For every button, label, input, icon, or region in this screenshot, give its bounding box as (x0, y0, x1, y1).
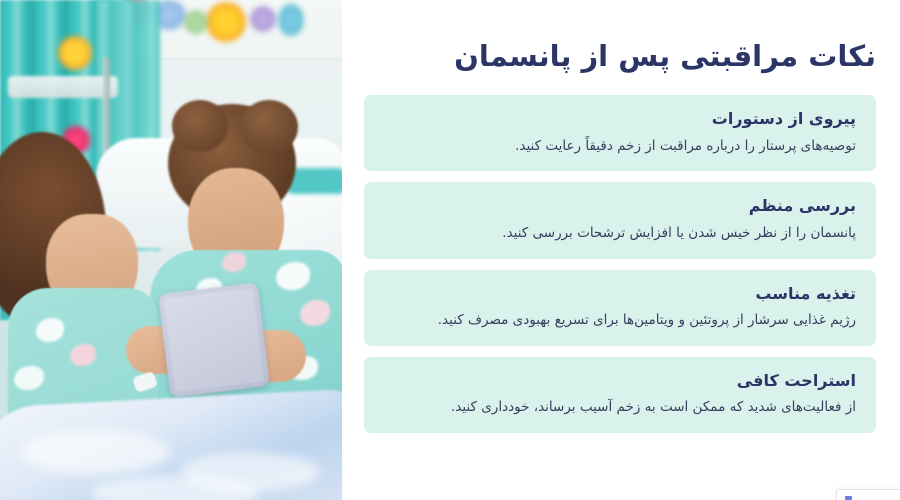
tip-card[interactable]: پیروی از دستورات توصیه‌های پرستار را درب… (364, 95, 876, 171)
blanket-fold-1 (20, 430, 170, 474)
hair-bun-left (172, 100, 228, 152)
page-title: نکات مراقبتی پس از پانسمان (364, 0, 876, 95)
tip-description: پانسمان را از نظر خیس شدن یا افزایش ترشح… (384, 223, 856, 244)
tablet-device (158, 282, 270, 397)
art-flower-teal (278, 4, 304, 36)
tip-card[interactable]: استراحت کافی از فعالیت‌های شدید که ممکن … (364, 357, 876, 433)
hanging-flower-yellow (58, 36, 92, 70)
tips-list: پیروی از دستورات توصیه‌های پرستار را درب… (364, 95, 876, 433)
tip-title: پیروی از دستورات (384, 108, 856, 130)
art-flower-yellow (206, 2, 246, 42)
tip-card[interactable]: بررسی منظم پانسمان را از نظر خیس شدن یا … (364, 182, 876, 258)
tip-description: رژیم غذایی سرشار از پروتئین و ویتامین‌ها… (384, 310, 856, 331)
art-flower-purple (250, 6, 276, 32)
tip-title: تغذیه مناسب (384, 283, 856, 305)
tip-description: توصیه‌های پرستار را درباره مراقبت از زخم… (384, 136, 856, 157)
bed-rail (8, 76, 118, 98)
tip-description: از فعالیت‌های شدید که ممکن است به زخم آس… (384, 397, 856, 418)
slide-root: نکات مراقبتی پس از پانسمان پیروی از دستو… (0, 0, 900, 500)
hair-bun-right (240, 100, 298, 154)
art-flower-green (184, 10, 208, 34)
tip-card[interactable]: تغذیه مناسب رژیم غذایی سرشار از پروتئین … (364, 270, 876, 346)
photo-scene (0, 0, 342, 500)
hero-photo (0, 0, 342, 500)
tip-title: استراحت کافی (384, 370, 856, 392)
widget-indicator-icon (845, 496, 852, 500)
tip-title: بررسی منظم (384, 195, 856, 217)
partial-bottom-widget[interactable] (836, 489, 900, 500)
tablet-screen (164, 288, 265, 392)
content-panel: نکات مراقبتی پس از پانسمان پیروی از دستو… (342, 0, 900, 500)
